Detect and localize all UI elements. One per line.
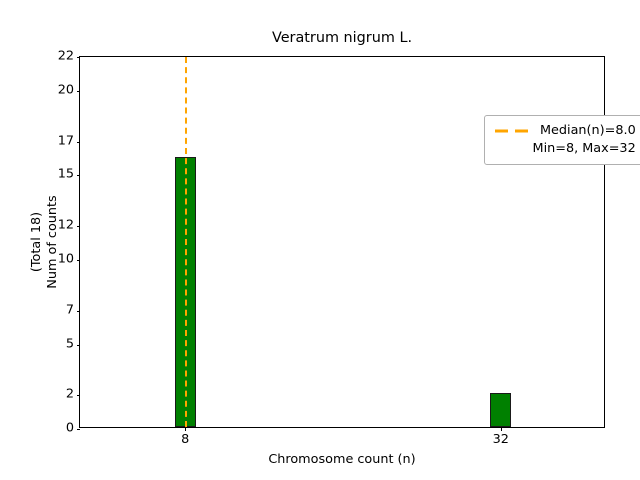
xtick-mark-8 (185, 427, 186, 431)
plot-area: 0 2 5 7 10 12 15 17 20 22 8 32 (79, 56, 605, 428)
xtick-label-8: 8 (181, 434, 189, 447)
ytick-mark-2 (77, 395, 81, 396)
ytick-mark-12 (77, 226, 81, 227)
ytick-mark-17 (77, 142, 81, 143)
page-title: Veratrum nigrum L. (79, 30, 605, 46)
y-axis-label: (Total 18) Num of counts (26, 56, 64, 428)
ytick-label-7: 7 (66, 304, 74, 317)
ytick-label-2: 2 (66, 389, 74, 402)
y-axis-label-line1: Num of counts (45, 195, 61, 288)
xtick-mark-32 (501, 427, 502, 431)
legend-item-median: Median(n)=8.0 (493, 122, 636, 140)
legend-label-range: Min=8, Max=32 (493, 143, 636, 156)
x-axis-label: Chromosome count (n) (79, 452, 605, 467)
ytick-mark-0 (77, 429, 81, 430)
ytick-mark-15 (77, 175, 81, 176)
chart-figure: Veratrum nigrum L. 0 2 5 7 10 12 15 17 2… (0, 0, 640, 480)
legend: Median(n)=8.0 Min=8, Max=32 (484, 115, 640, 165)
legend-item-range: Min=8, Max=32 (493, 140, 636, 158)
xtick-label-32: 32 (493, 434, 509, 447)
ytick-label-5: 5 (66, 338, 74, 351)
legend-label-median: Median(n)=8.0 (540, 125, 636, 138)
ytick-label-0: 0 (66, 423, 74, 436)
ytick-mark-5 (77, 345, 81, 346)
ytick-mark-7 (77, 311, 81, 312)
ytick-mark-22 (77, 57, 81, 58)
plot-inner (80, 57, 604, 427)
y-axis-label-line2: (Total 18) (29, 212, 45, 272)
median-line (185, 57, 187, 427)
ytick-mark-10 (77, 260, 81, 261)
dashed-line-icon (493, 125, 531, 137)
bar-32[interactable] (490, 393, 511, 427)
ytick-mark-20 (77, 91, 81, 92)
